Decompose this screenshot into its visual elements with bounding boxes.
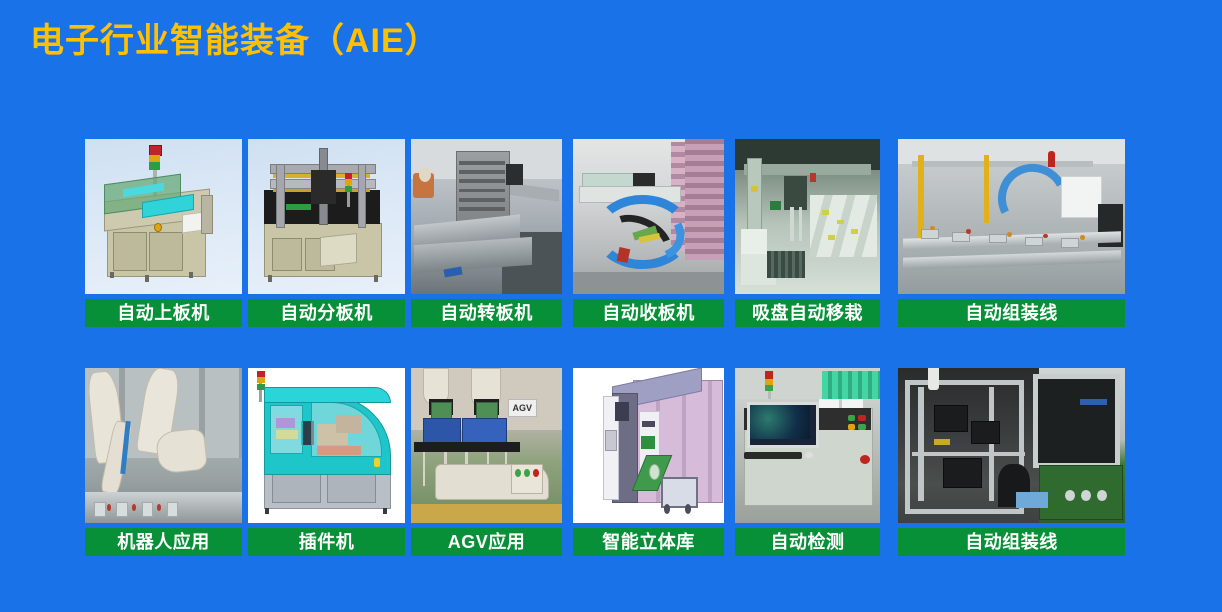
card-thumbnail — [735, 368, 880, 523]
card-caption: 吸盘自动移栽 — [735, 299, 880, 327]
card-suction-transfer[interactable]: 吸盘自动移栽 — [735, 139, 880, 294]
card-agv-application[interactable]: AGV AGV应用 — [411, 368, 562, 523]
card-caption: 自动组装线 — [898, 528, 1125, 556]
card-caption: 自动分板机 — [248, 299, 405, 327]
card-thumbnail — [573, 139, 724, 294]
card-thumbnail — [898, 368, 1125, 523]
card-caption: 机器人应用 — [85, 528, 242, 556]
card-caption: 自动检测 — [735, 528, 880, 556]
card-caption: 自动组装线 — [898, 299, 1125, 327]
card-auto-assembly-line-top[interactable]: 自动组装线 — [898, 139, 1125, 294]
card-auto-unloader[interactable]: 自动收板机 — [573, 139, 724, 294]
card-caption: 智能立体库 — [573, 528, 724, 556]
slide-canvas: 电子行业智能装备（AIE） 自动上板机 — [0, 0, 1222, 612]
card-robot-application[interactable]: 机器人应用 — [85, 368, 242, 523]
card-row-1: 自动上板机 自动分板机 — [0, 139, 1222, 324]
page-title: 电子行业智能装备（AIE） — [30, 13, 440, 62]
card-caption: 自动转板机 — [411, 299, 562, 327]
card-caption: 自动上板机 — [85, 299, 242, 327]
card-auto-loader[interactable]: 自动上板机 — [85, 139, 242, 294]
card-thumbnail: AGV — [411, 368, 562, 523]
card-thumbnail — [85, 139, 242, 294]
card-auto-depaneler[interactable]: 自动分板机 — [248, 139, 405, 294]
card-thumbnail — [248, 368, 405, 523]
card-caption: 插件机 — [248, 528, 405, 556]
card-thumbnail — [85, 368, 242, 523]
card-thumbnail — [898, 139, 1125, 294]
card-caption: AGV应用 — [411, 528, 562, 556]
card-insertion-machine[interactable]: 插件机 — [248, 368, 405, 523]
card-thumbnail — [573, 368, 724, 523]
agv-overlay-label: AGV — [508, 399, 537, 417]
card-auto-transfer[interactable]: 自动转板机 — [411, 139, 562, 294]
card-caption: 自动收板机 — [573, 299, 724, 327]
card-auto-assembly-line-bottom[interactable]: 自动组装线 — [898, 368, 1125, 523]
card-thumbnail — [411, 139, 562, 294]
card-smart-warehouse[interactable]: 智能立体库 — [573, 368, 724, 523]
card-thumbnail — [735, 139, 880, 294]
card-auto-inspection[interactable]: 自动检测 — [735, 368, 880, 523]
card-row-2: 机器人应用 插件机 — [0, 368, 1222, 553]
card-thumbnail — [248, 139, 405, 294]
